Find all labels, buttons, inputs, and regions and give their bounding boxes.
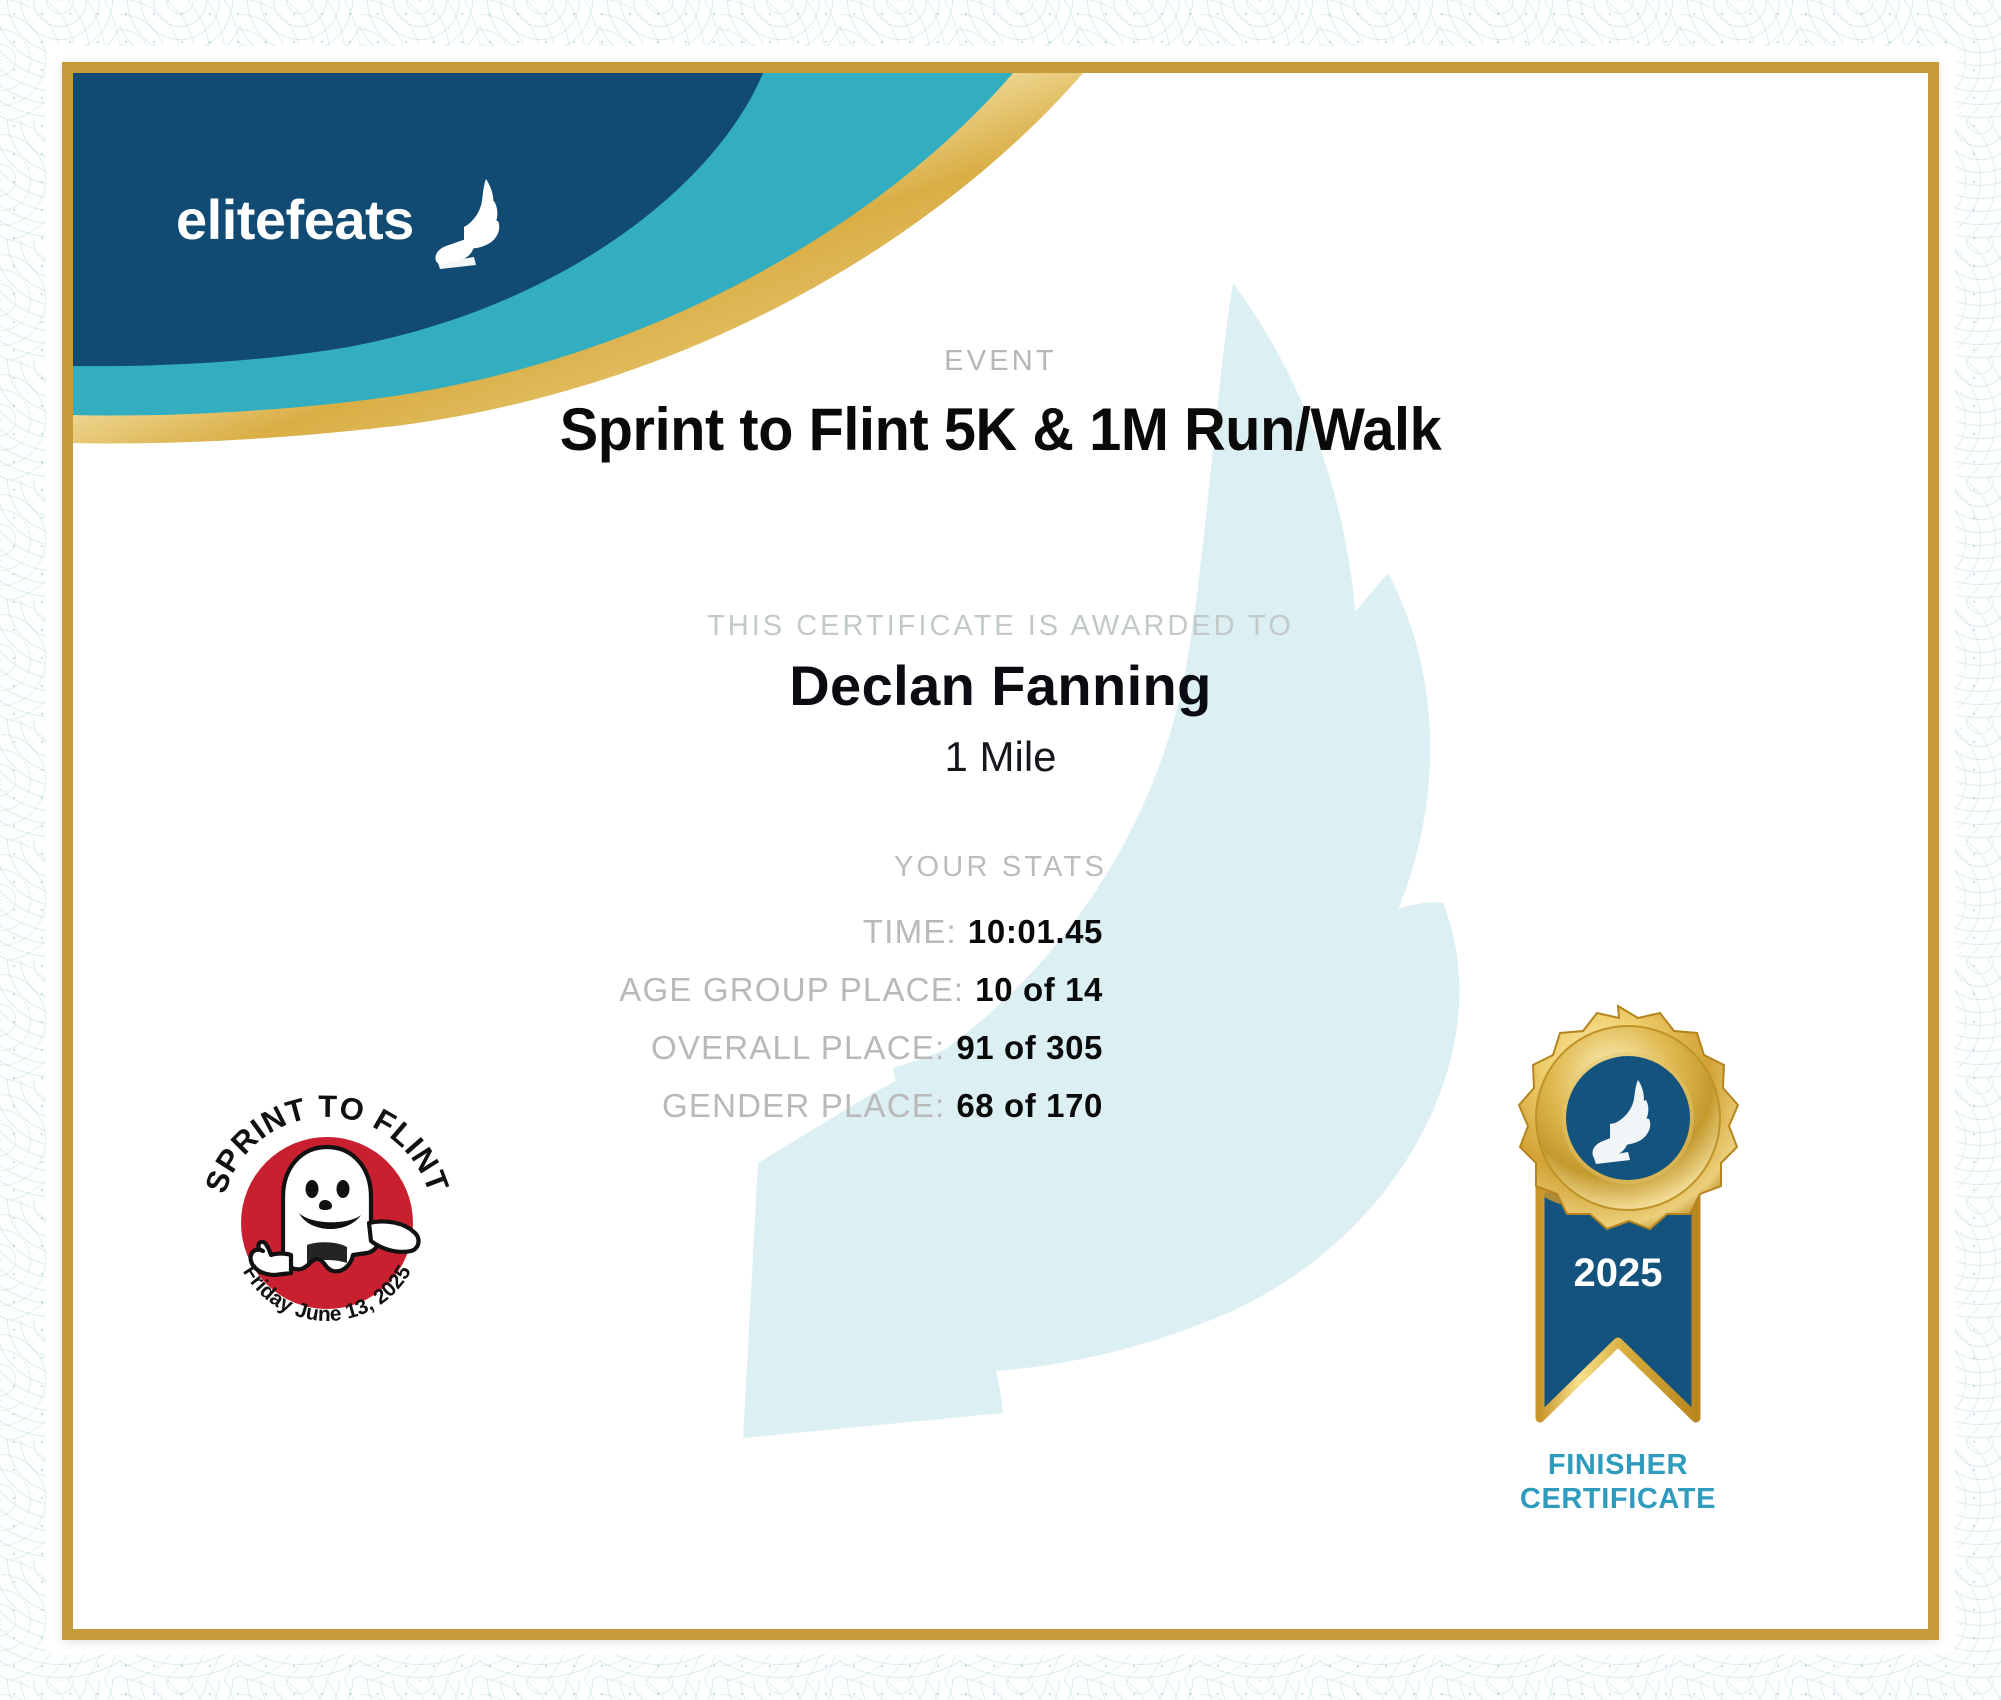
stat-value: 91 of 305 xyxy=(956,1029,1103,1067)
recipient-name: Declan Fanning xyxy=(73,653,1928,718)
event-title: Sprint to Flint 5K & 1M Run/Walk xyxy=(110,395,1891,464)
stat-row: OVERALL PLACE: 91 of 305 xyxy=(73,1029,1103,1067)
race-logo: SPRINT TO FLINT Friday June 13, 2025 xyxy=(191,1073,463,1345)
badge-caption: FINISHER CERTIFICATE xyxy=(1468,1449,1768,1516)
badge-caption-line1: FINISHER xyxy=(1468,1449,1768,1483)
stat-row: AGE GROUP PLACE: 10 of 14 xyxy=(73,971,1103,1009)
event-label: EVENT xyxy=(73,345,1928,378)
stat-label: OVERALL PLACE: xyxy=(651,1029,945,1067)
stat-row: TIME: 10:01.45 xyxy=(73,913,1103,951)
awarded-to-label: THIS CERTIFICATE IS AWARDED TO xyxy=(73,610,1928,643)
badge-caption-line2: CERTIFICATE xyxy=(1468,1483,1768,1517)
your-stats-label: YOUR STATS xyxy=(73,851,1928,884)
stat-value: 10:01.45 xyxy=(968,913,1103,951)
stat-label: AGE GROUP PLACE: xyxy=(619,971,964,1009)
stat-value: 68 of 170 xyxy=(956,1087,1103,1125)
stat-label: TIME: xyxy=(863,913,957,951)
stat-label: GENDER PLACE: xyxy=(662,1087,945,1125)
gold-frame: elitefeats EV xyxy=(62,62,1939,1640)
finisher-badge: 2025 xyxy=(1468,998,1768,1468)
certificate-page: elitefeats EV xyxy=(0,0,2001,1700)
stat-value: 10 of 14 xyxy=(975,971,1103,1009)
distance-label: 1 Mile xyxy=(73,733,1928,781)
badge-year: 2025 xyxy=(1574,1251,1663,1295)
